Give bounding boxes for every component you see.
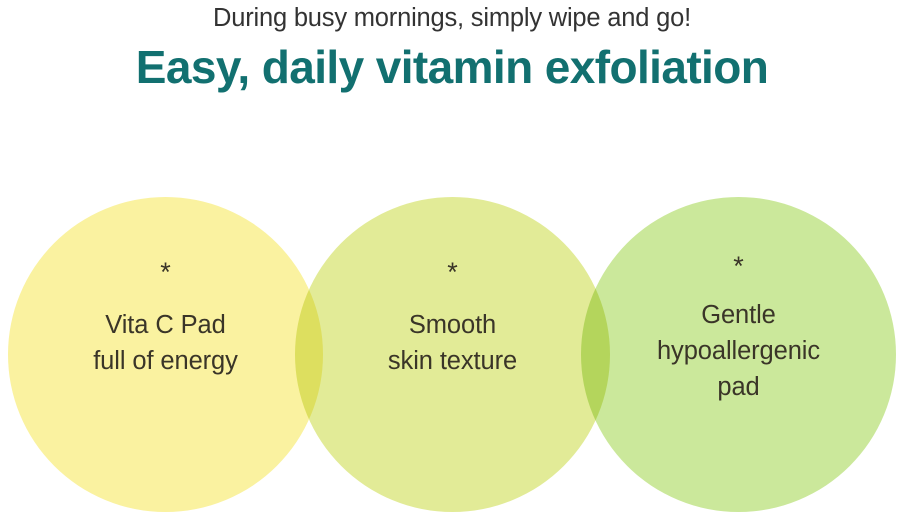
feature-label-vita-c-pad: Vita C Pad full of energy (8, 307, 323, 379)
feature-label-gentle-hypoallergenic-pad: Gentle hypoallergenic pad (581, 297, 896, 406)
promo-banner: During busy mornings, simply wipe and go… (0, 0, 904, 517)
asterisk-icon: * (8, 259, 323, 286)
feature-circle-vita-c-pad: * Vita C Pad full of energy (8, 197, 323, 512)
feature-content-vita-c-pad: * Vita C Pad full of energy (8, 197, 323, 379)
header-block: During busy mornings, simply wipe and go… (0, 0, 904, 94)
asterisk-icon: * (581, 253, 896, 280)
feature-label-smooth-skin-texture: Smooth skin texture (295, 307, 610, 379)
feature-content-smooth-skin-texture: * Smooth skin texture (295, 197, 610, 379)
asterisk-icon: * (295, 259, 610, 286)
headline: Easy, daily vitamin exfoliation (0, 33, 904, 94)
subheadline: During busy mornings, simply wipe and go… (0, 0, 904, 33)
feature-circle-smooth-skin-texture: * Smooth skin texture (295, 197, 610, 512)
feature-circle-cluster: * Vita C Pad full of energy * Smooth ski… (0, 197, 904, 517)
feature-content-gentle-hypoallergenic-pad: * Gentle hypoallergenic pad (581, 197, 896, 406)
feature-circle-gentle-hypoallergenic-pad: * Gentle hypoallergenic pad (581, 197, 896, 512)
